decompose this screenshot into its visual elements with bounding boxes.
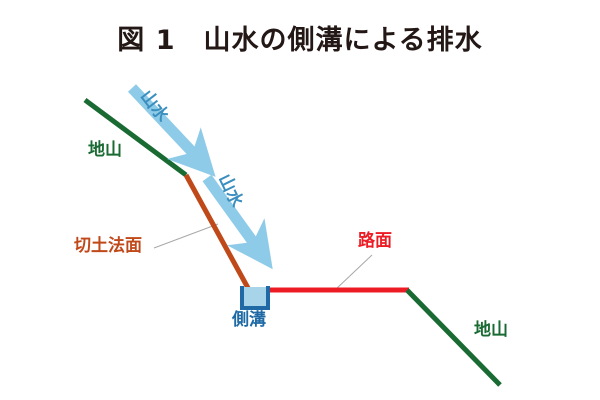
side-gutter-fill: [244, 287, 267, 307]
leader-line-road-surface: [335, 255, 372, 290]
label-natural-ground-right: 地山: [474, 322, 508, 339]
label-side-gutter: 側溝: [232, 312, 266, 329]
figure-container: 図 1 山水の側溝による排水 地山 地山 切土法面 路面 側溝 山水: [0, 0, 600, 400]
side-gutter: [242, 286, 268, 308]
drainage-cross-section-diagram: [0, 0, 600, 400]
label-cut-slope: 切土法面: [74, 238, 142, 255]
label-road-surface: 路面: [358, 233, 392, 250]
label-natural-ground-left: 地山: [88, 142, 122, 159]
leader-line-cut-slope: [154, 224, 218, 248]
